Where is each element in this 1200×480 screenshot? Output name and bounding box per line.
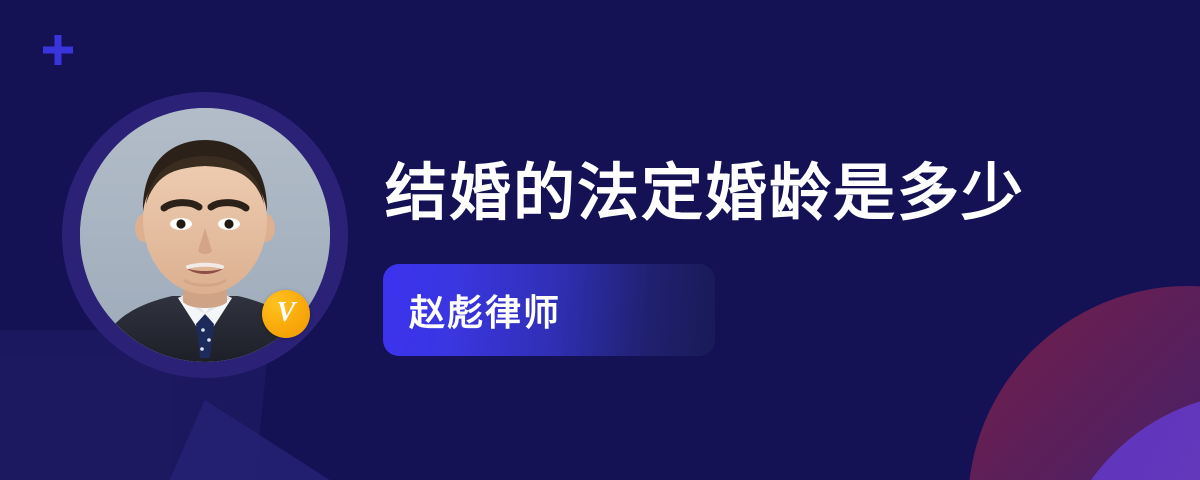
verify-badge-glyph: V	[277, 299, 296, 327]
page-title: 结婚的法定婚龄是多少	[385, 160, 1025, 228]
lawyer-question-banner: V 结婚的法定婚龄是多少 赵彪律师	[0, 0, 1200, 480]
lawyer-name-badge: 赵彪律师	[383, 264, 715, 356]
avatar: V	[62, 92, 348, 378]
plus-icon	[40, 32, 76, 68]
verified-check-icon: V	[262, 290, 310, 338]
lawyer-name-label: 赵彪律师	[383, 284, 561, 336]
